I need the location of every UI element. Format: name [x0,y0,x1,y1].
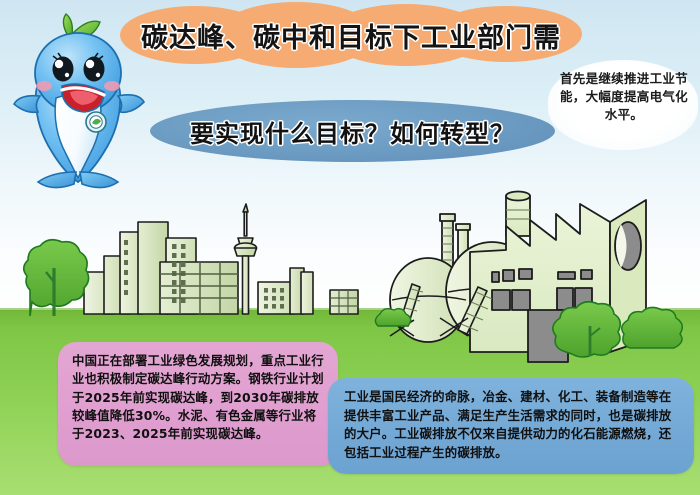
page-subtitle: 要实现什么目标？如何转型？ [150,100,555,162]
page-title: 碳达峰、碳中和目标下工业部门需 [120,2,582,68]
tree-factory-far-right [622,307,683,348]
panel-right-blue: 工业是国民经济的命脉，冶金、建材、化工、装备制造等在提供丰富工业产品、满足生产生… [328,378,694,474]
panel-left-text: 中国正在部署工业绿色发展规划，重点工业行业也积极制定碳达峰行动方案。钢铁行业计划… [72,352,324,444]
low-rise-building [330,290,358,314]
tree-city [24,240,89,316]
left-flipper [14,96,40,113]
low-rise-building [301,272,313,314]
office-block [160,262,238,314]
infographic-poster: 碳达峰、碳中和目标下工业部门需 要实现什么目标？如何转型？ 首先是继续推进工业节… [0,0,700,495]
badge-emblem [86,112,106,132]
note-text: 首先是继续推进工业节能，大幅度提高电气化水平。 [554,70,694,124]
panel-left-pink: 中国正在部署工业绿色发展规划，重点工业行业也积极制定碳达峰行动方案。钢铁行业计划… [58,342,338,466]
panel-right-text: 工业是国民经济的命脉，冶金、建材、化工、装备制造等在提供丰富工业产品、满足生产生… [344,388,680,462]
right-flipper [118,95,144,112]
